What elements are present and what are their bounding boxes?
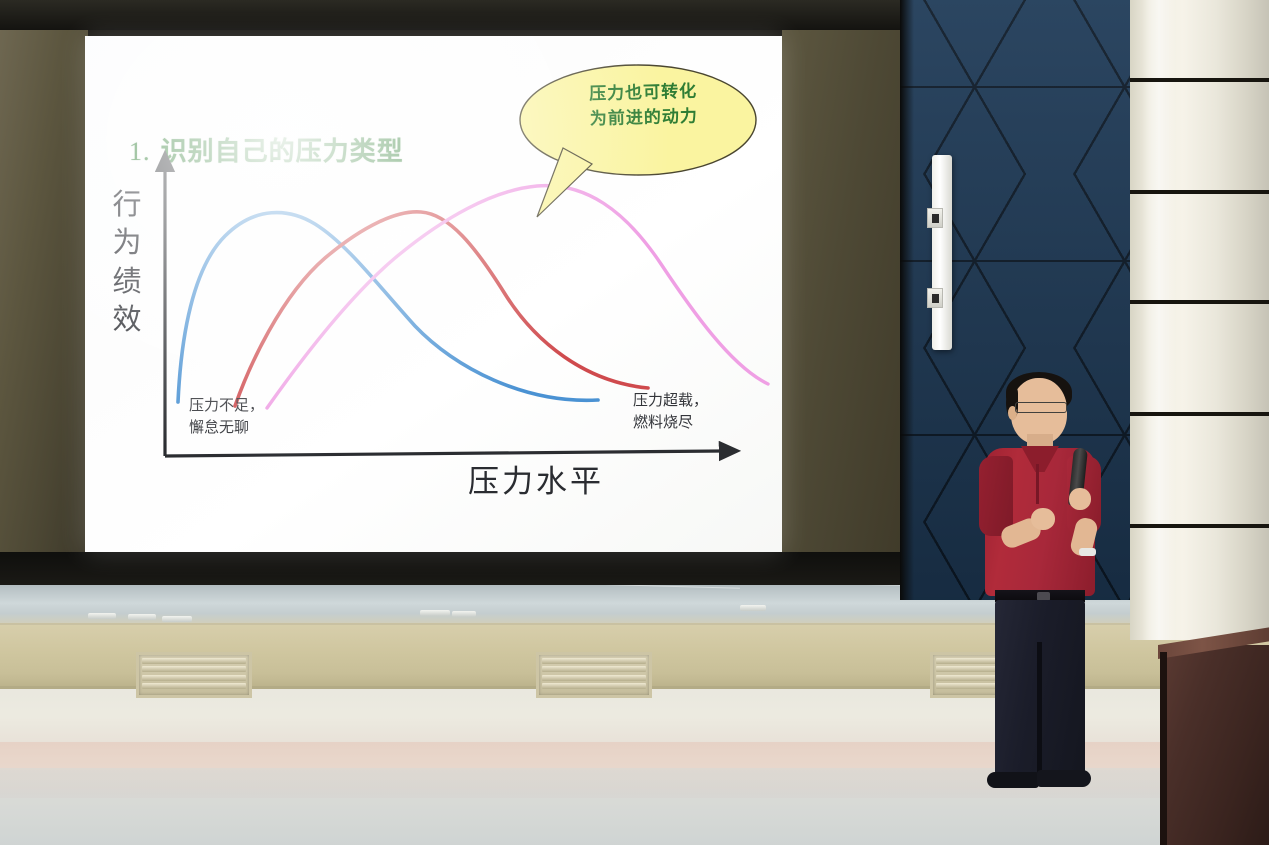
backdrop-top-trim	[0, 0, 900, 30]
wall-speaker	[932, 155, 952, 350]
air-vent	[136, 652, 252, 698]
annotation-high-stress: 压力超载， 燃料烧尽	[633, 391, 708, 435]
stage-floor-tab	[88, 613, 116, 619]
projection-screen: 1. 识别自己的压力类型	[85, 36, 782, 552]
annotation-low-stress: 压力不足， 懈怠无聊	[189, 396, 264, 440]
backdrop-right-panel	[782, 30, 900, 552]
podium	[1160, 645, 1269, 845]
annotation-high-stress-line1: 压力超载，	[633, 391, 708, 413]
stage-floor-tab	[162, 616, 192, 622]
air-vent	[536, 652, 652, 698]
presenter-watch	[1079, 548, 1096, 556]
annotation-high-stress-line2: 燃料烧尽	[633, 413, 708, 435]
stage-floor-tab	[740, 605, 766, 611]
column-band	[1130, 190, 1269, 194]
column-band	[1130, 300, 1269, 304]
curve-red	[235, 212, 648, 406]
curve-blue	[178, 213, 598, 402]
presenter-left-shoe	[987, 772, 1039, 788]
column-band	[1130, 412, 1269, 416]
presenter-placket	[1036, 464, 1039, 504]
annotation-low-stress-line1: 压力不足，	[189, 396, 264, 418]
presenter-left-sleeve	[979, 456, 1013, 536]
wall-shadow	[900, 0, 914, 600]
curve-pink	[267, 186, 768, 408]
x-axis-label: 压力水平	[468, 456, 604, 501]
presentation-photo-scene: 1. 识别自己的压力类型	[0, 0, 1269, 845]
backdrop-base	[0, 552, 900, 585]
y-axis-char: 行	[105, 186, 149, 224]
y-axis-label: 行为绩效	[105, 186, 149, 339]
presenter-right-shoe	[1037, 770, 1091, 787]
presenter	[975, 372, 1105, 802]
speech-bubble-line2: 为前进的动力	[551, 103, 737, 132]
y-axis-char: 为	[105, 224, 149, 262]
speaker-bracket	[927, 288, 943, 308]
stage-floor-tab	[452, 611, 476, 617]
column-band	[1130, 524, 1269, 528]
presenter-leg-split	[1037, 642, 1042, 780]
stage-floor-tab	[128, 614, 156, 620]
annotation-low-stress-line2: 懈怠无聊	[189, 418, 264, 440]
presenter-right-hand	[1069, 488, 1091, 510]
column-band	[1130, 78, 1269, 82]
podium-edge	[1160, 652, 1167, 845]
y-axis-char: 绩	[105, 263, 149, 301]
presenter-left-hand	[1031, 508, 1055, 530]
stage-floor-tab	[420, 610, 450, 616]
x-axis	[165, 451, 722, 456]
speaker-bracket	[927, 208, 943, 228]
y-axis-char: 效	[105, 301, 149, 339]
speech-bubble-text: 压力也可转化 为前进的动力	[550, 79, 736, 133]
floor-stripe	[0, 798, 1269, 845]
presenter-glasses	[1015, 402, 1067, 413]
column-gloss	[1142, 0, 1176, 640]
backdrop-left-panel	[0, 30, 88, 582]
